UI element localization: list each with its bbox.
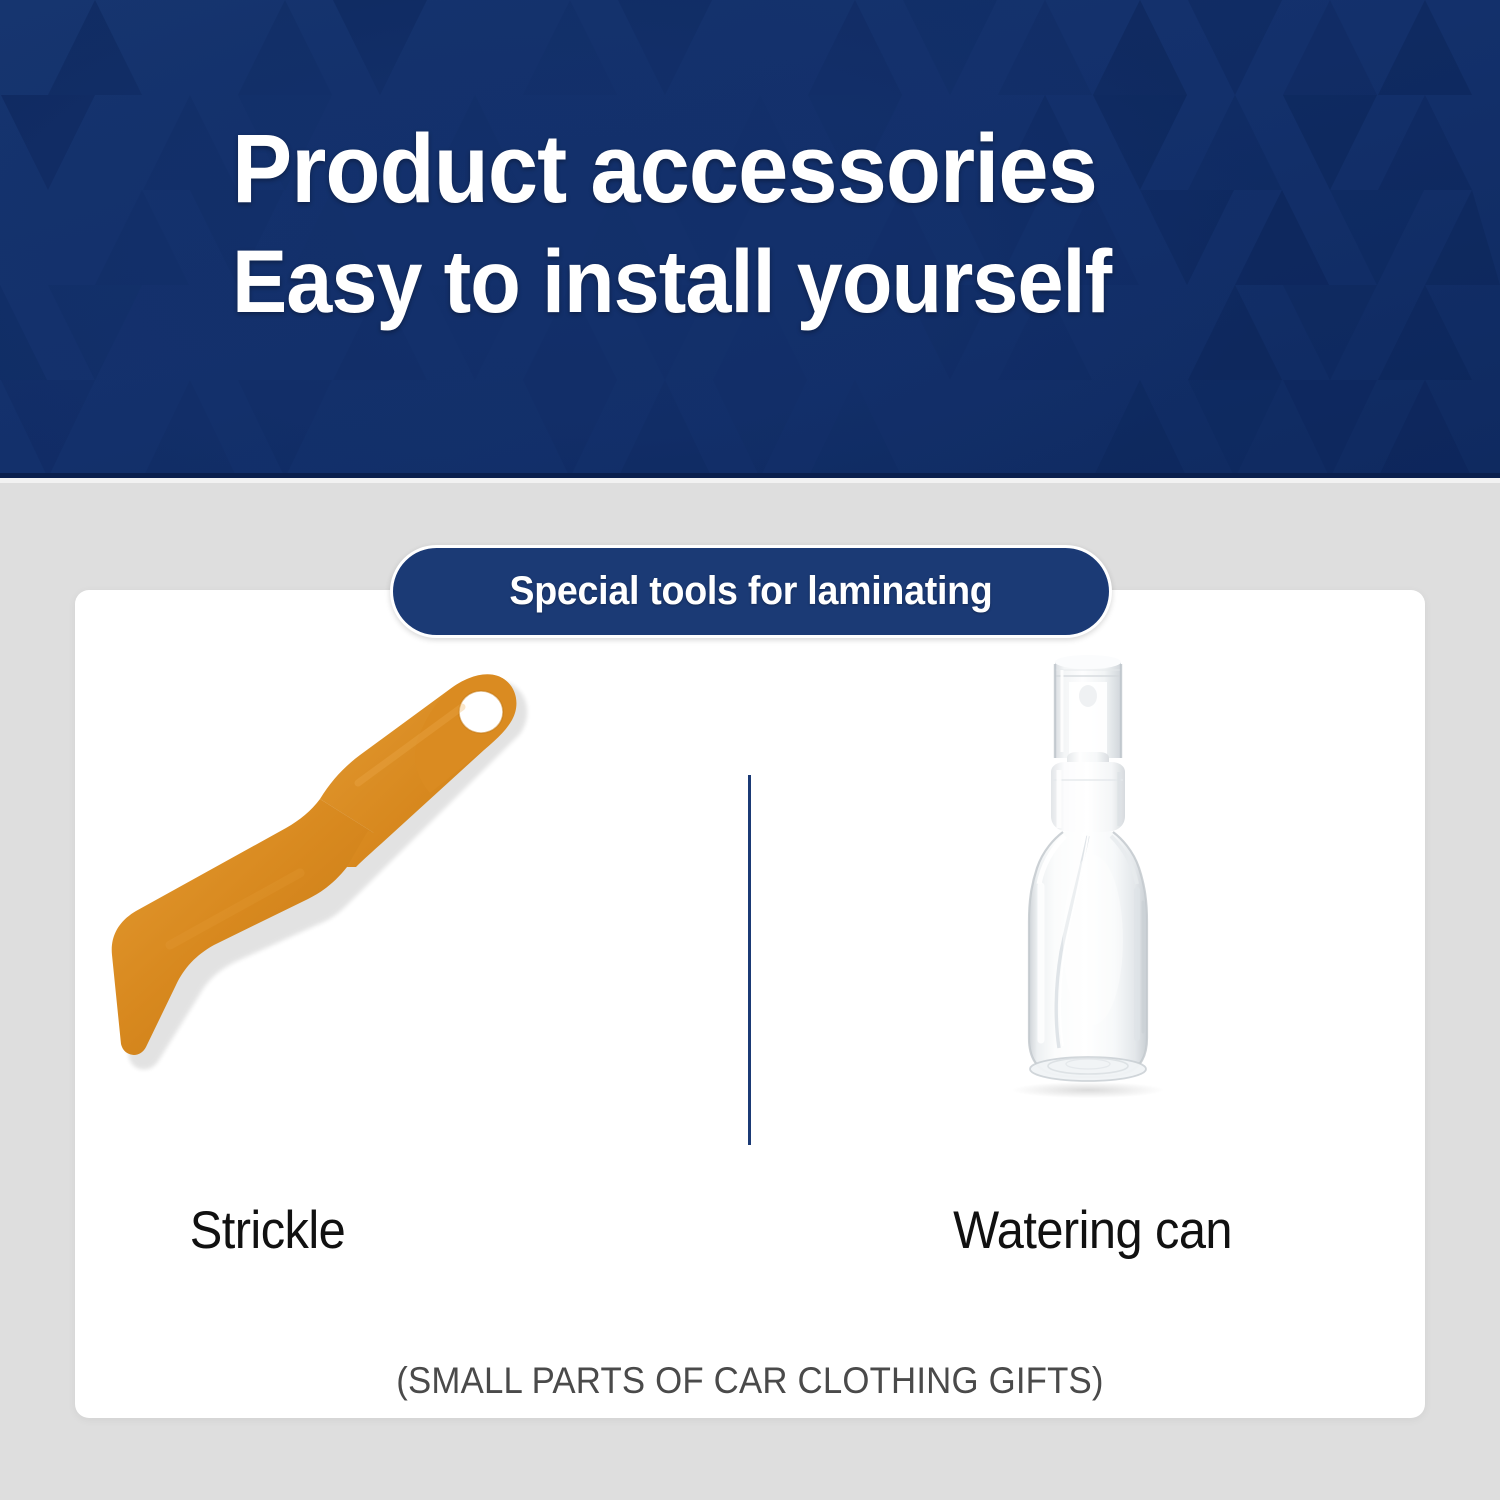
nozzle-tip [1079, 685, 1097, 707]
squeegee-blade [112, 799, 374, 1055]
product-column-strickle: Strickle [75, 640, 750, 1320]
product-label-watering-can: Watering can [953, 1200, 1232, 1261]
headline-primary: Product accessories [232, 120, 1329, 217]
product-label-strickle: Strickle [190, 1200, 345, 1261]
product-column-watering-can: Watering can [750, 640, 1425, 1320]
product-accessories-infographic: Product accessories Easy to install your… [0, 0, 1500, 1500]
section-badge-label: Special tools for laminating [509, 569, 992, 614]
overcap-top [1055, 655, 1121, 669]
strickle-image-stage [75, 640, 750, 1200]
bottle-collar [1051, 762, 1125, 832]
footer-note: (SMALL PARTS OF CAR CLOTHING GIFTS) [45, 1360, 1455, 1402]
header-banner: Product accessories Easy to install your… [0, 0, 1500, 478]
header-title-block: Product accessories Easy to install your… [232, 120, 1412, 326]
bottle-ground-shadow [1013, 1082, 1163, 1098]
clear-spray-bottle-icon [993, 640, 1183, 1100]
column-divider [748, 775, 751, 1145]
headline-secondary: Easy to install yourself [232, 237, 1329, 326]
section-badge: Special tools for laminating [390, 545, 1112, 638]
orange-squeegee-icon [110, 655, 540, 1075]
watering-can-image-stage [750, 640, 1425, 1200]
